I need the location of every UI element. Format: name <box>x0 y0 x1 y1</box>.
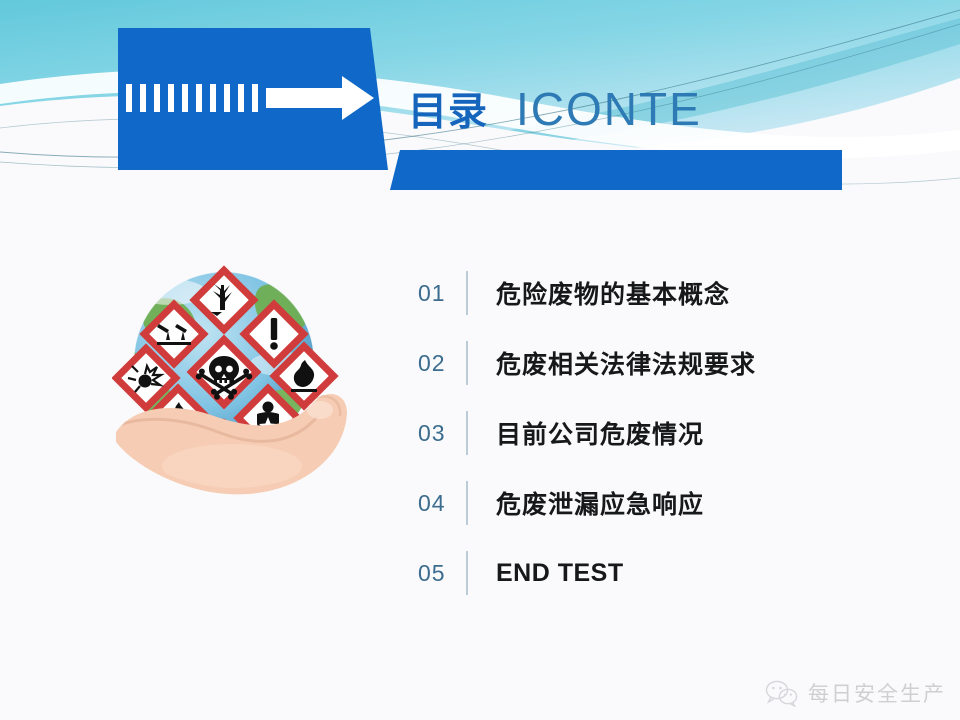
arrow-banner <box>118 28 388 170</box>
page-title-cn: 目录 <box>408 93 488 132</box>
page-title: 目录 ICONTE <box>408 86 702 132</box>
toc-number: 02 <box>418 350 466 377</box>
toc-number: 04 <box>418 490 466 517</box>
toc-label: END TEST <box>496 559 624 588</box>
page-title-en: ICONTE <box>516 86 702 132</box>
toc-label: 危废泄漏应急响应 <box>496 485 704 521</box>
hazard-globe-figure <box>112 252 350 500</box>
toc-separator <box>466 271 468 315</box>
watermark: 每日安全生产 <box>765 678 946 708</box>
toc-number: 05 <box>418 560 466 587</box>
toc-item-01[interactable]: 01 危险废物的基本概念 <box>418 258 898 328</box>
toc-separator <box>466 411 468 455</box>
toc-list: 01 危险废物的基本概念 02 危废相关法律法规要求 03 目前公司危废情况 0… <box>418 258 898 608</box>
title-underbar-shape <box>384 150 842 190</box>
toc-separator <box>466 481 468 525</box>
toc-separator <box>466 551 468 595</box>
arrow-banner-graphic <box>118 28 388 170</box>
wechat-icon <box>765 679 799 707</box>
watermark-text: 每日安全生产 <box>808 678 946 708</box>
toc-number: 01 <box>418 280 466 307</box>
slide-canvas: 目录 ICONTE <box>0 0 960 720</box>
toc-item-05[interactable]: 05 END TEST <box>418 538 898 608</box>
toc-label: 危废相关法律法规要求 <box>496 345 756 381</box>
toc-number: 03 <box>418 420 466 447</box>
toc-label: 目前公司危废情况 <box>496 415 704 451</box>
title-underbar <box>384 150 842 190</box>
toc-label: 危险废物的基本概念 <box>496 275 730 311</box>
toc-item-03[interactable]: 03 目前公司危废情况 <box>418 398 898 468</box>
toc-item-02[interactable]: 02 危废相关法律法规要求 <box>418 328 898 398</box>
toc-separator <box>466 341 468 385</box>
hazard-globe-graphic <box>112 252 350 500</box>
toc-item-04[interactable]: 04 危废泄漏应急响应 <box>418 468 898 538</box>
